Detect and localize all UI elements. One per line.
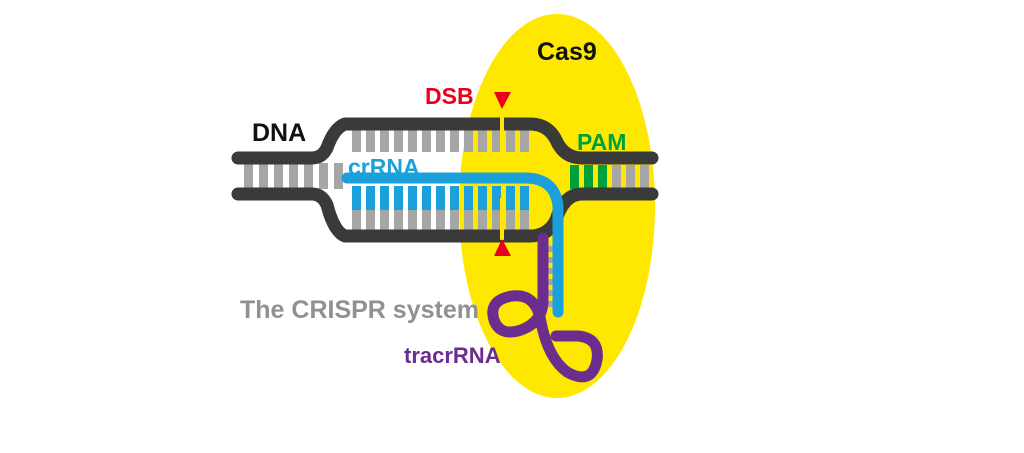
crispr-diagram-root: DNA DSB Cas9 PAM crRNA tracrRNA The CRIS…: [0, 0, 1024, 453]
crrna-label: crRNA: [348, 154, 420, 180]
dsb-label: DSB: [425, 83, 474, 109]
figure-caption: The CRISPR system: [240, 296, 479, 324]
dna-label: DNA: [252, 119, 306, 147]
cas9-label: Cas9: [537, 38, 597, 66]
crispr-system-figure: DNA DSB Cas9 PAM crRNA tracrRNA The CRIS…: [0, 0, 1024, 453]
pam-label: PAM: [577, 129, 626, 155]
tracrrna-label: tracrRNA: [404, 343, 501, 368]
